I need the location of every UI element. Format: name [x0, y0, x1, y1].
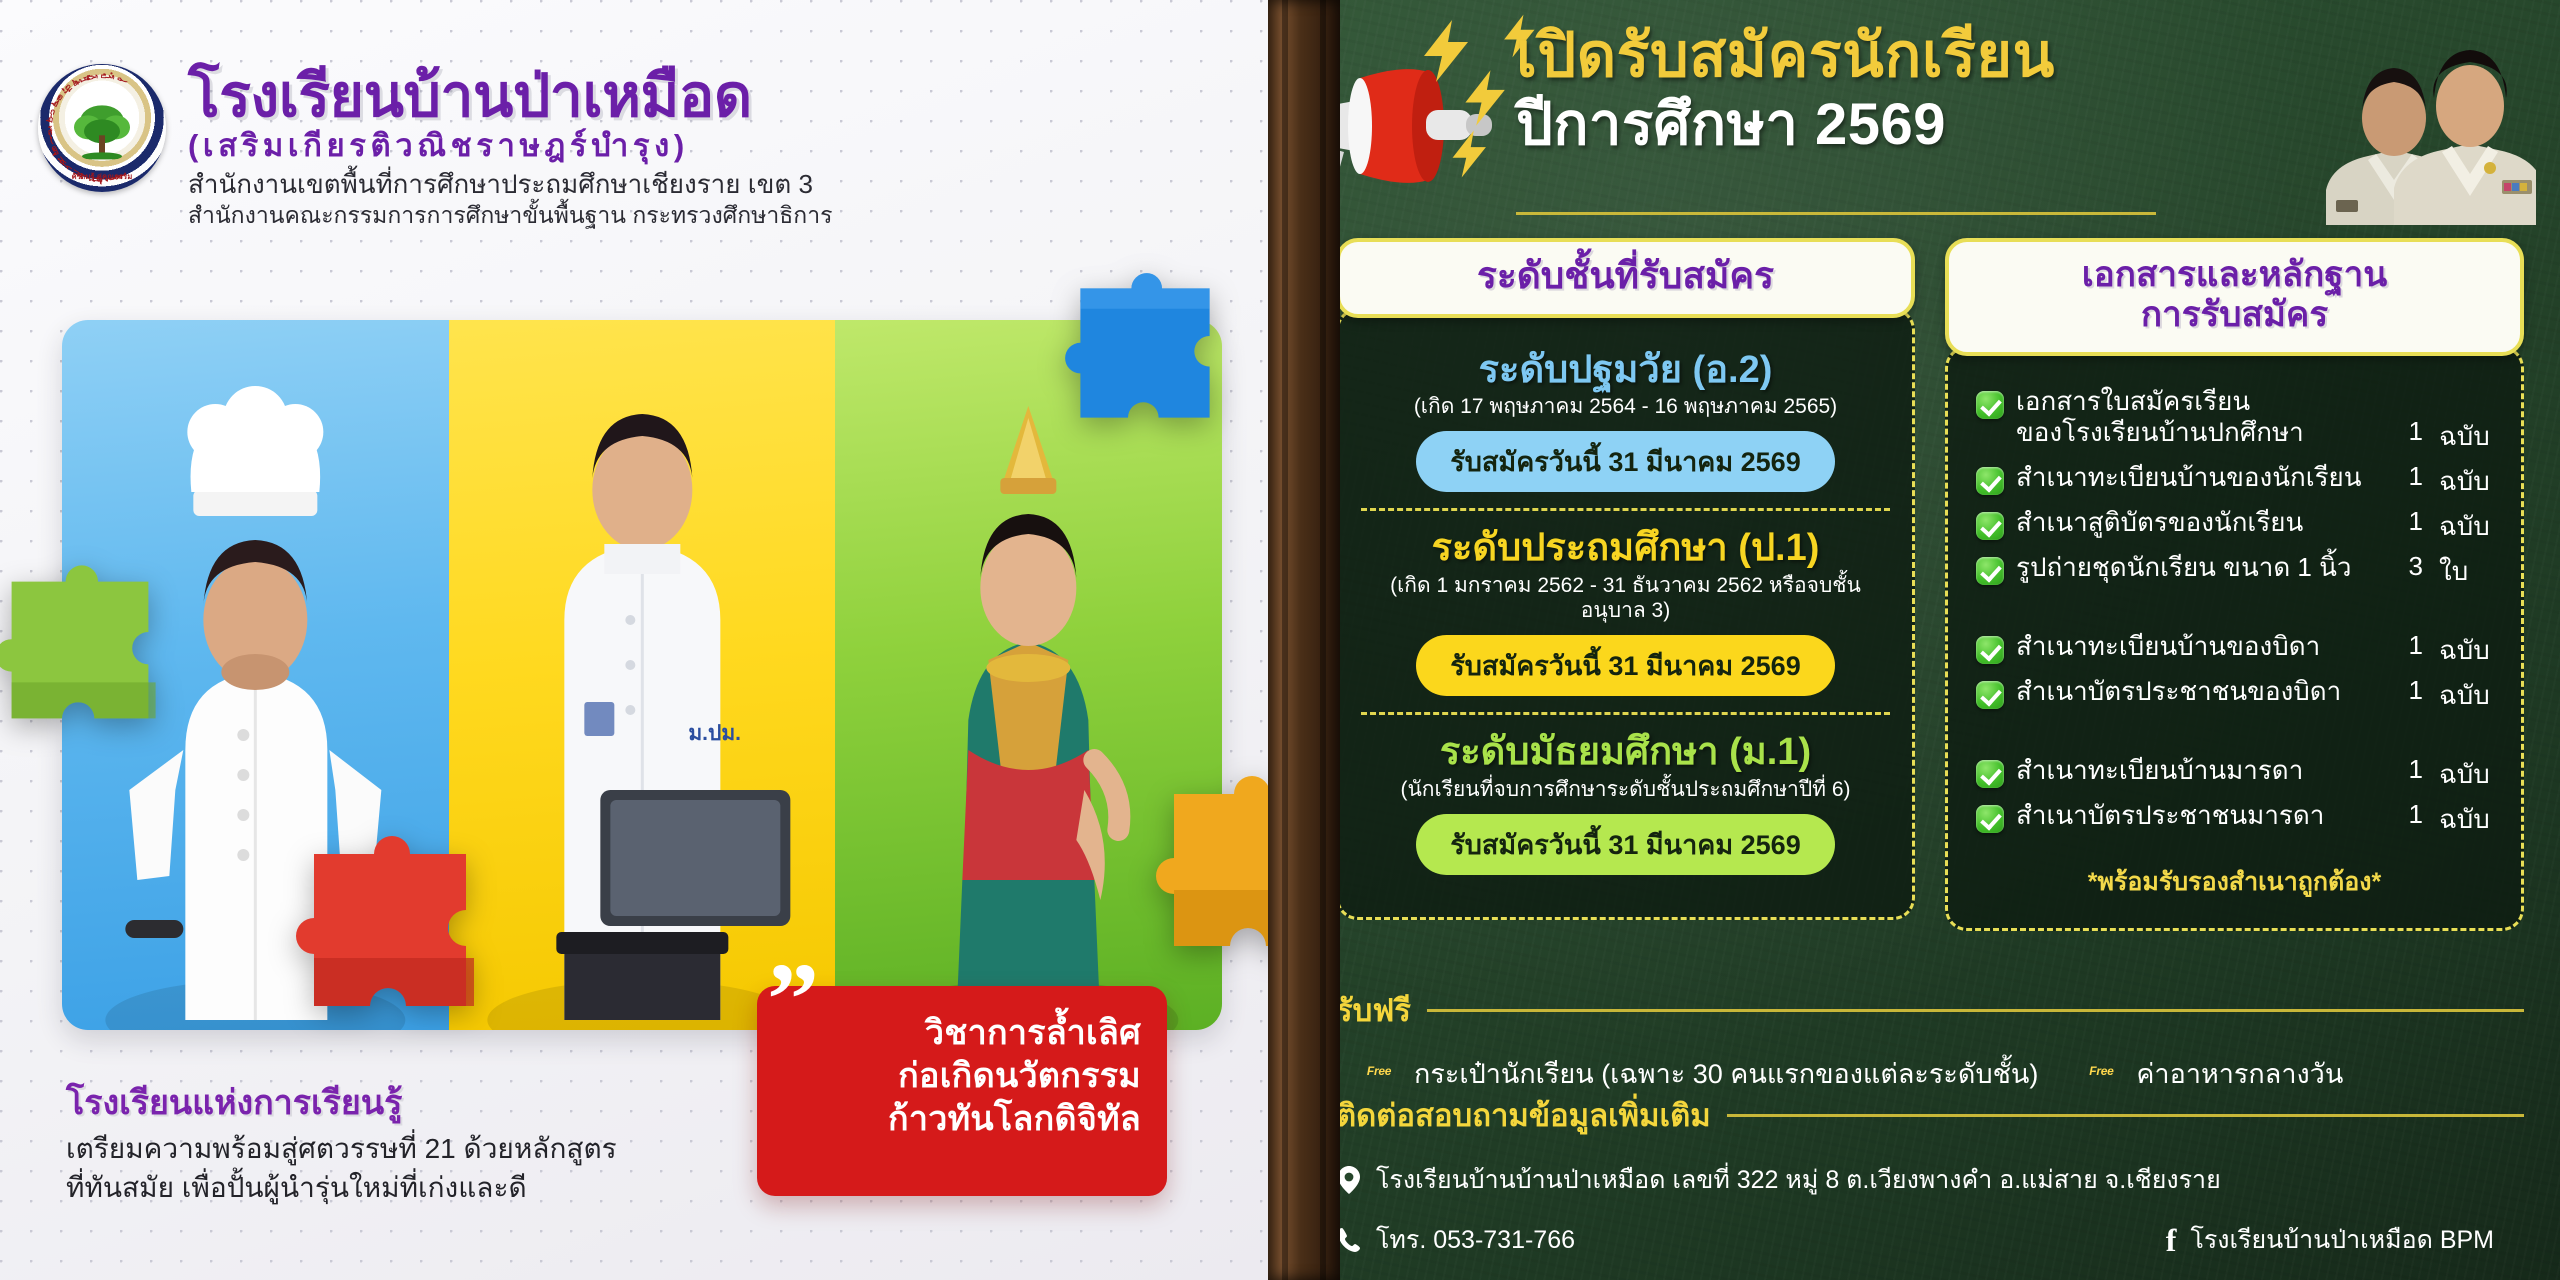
page-subtitle: (เสริมเกียรติวณิชราษฎร์บำรุง) [188, 127, 833, 165]
poster-root: โรงเรียนบ้านป่าเหมือด (เสริมเกียรติวณิชร… [0, 0, 2560, 1280]
documents-list: เอกสารใบสมัครเรียนของโรงเรียนบ้านปกศึกษา… [1970, 379, 2499, 841]
document-unit: ใบ [2423, 551, 2495, 592]
free-item-text: ค่าอาหารกลางวัน [2136, 1052, 2343, 1095]
level-deadline-pill: รับสมัครวันนี้ 31 มีนาคม 2569 [1416, 814, 1834, 875]
document-label-continued: ของโรงเรียนบ้านปกศึกษา [2016, 416, 2369, 457]
facebook-page-name: โรงเรียนบ้านป่าเหมือด BPM [2190, 1220, 2494, 1260]
free-star-badge-icon: Free [1356, 1051, 1402, 1095]
tagline-line-2: ที่ทันสมัย เพื่อปั้นผู้นำรุ่นใหม่ที่เก่ง… [66, 1170, 706, 1207]
right-panel-chalkboard: เปิดรับสมัครนักเรียน ปีการศึกษา 2569 [1300, 0, 2560, 1280]
office-line-2: สำนักงานคณะกรรมการการศึกษาขั้นพื้นฐาน กร… [188, 201, 833, 230]
free-badge-label: Free [1356, 1064, 1402, 1078]
facebook-icon: f [2166, 1222, 2177, 1259]
document-unit: ฉบับ [2423, 630, 2495, 671]
documents-column: เอกสารและหลักฐาน การรับสมัคร เอกสารใบสมั… [1945, 238, 2524, 931]
document-row: สำเนาทะเบียนบ้านมารดา1ฉบับ [1976, 754, 2495, 795]
check-icon [1976, 391, 2004, 419]
logo-ring-char: ) [119, 78, 128, 84]
document-unit: ฉบับ [2423, 799, 2495, 840]
document-label: สำเนาทะเบียนบ้านมารดา [2016, 754, 2369, 795]
contact-phone-row[interactable]: โทร. 053-731-766 f โรงเรียนบ้านป่าเหมือด… [1336, 1220, 2524, 1260]
level-title: ระดับมัธยมศึกษา (ม.1) [1361, 731, 1890, 775]
free-item: Freeค่าอาหารกลางวัน [2078, 1051, 2343, 1095]
quote-line-3: ก้าวทันโลกดิจิทัล [757, 1098, 1141, 1141]
document-unit: ฉบับ [2423, 506, 2495, 547]
document-quantity: 1 [2369, 630, 2423, 671]
free-section-title: รับฟรี [1336, 985, 1411, 1035]
school-header: โรงเรียนบ้านป่าเหมือด (เสริมเกียรติวณิชร… [0, 30, 1300, 231]
tagline-title: โรงเรียนแห่งการเรียนรู้ [66, 1075, 706, 1129]
office-line-1: สำนักงานเขตพื้นที่การศึกษาประถมศึกษาเชีย… [188, 168, 833, 201]
quote-mark-icon: ” [767, 964, 813, 1037]
quote-line-2: ก่อเกิดนวัตกรรม [757, 1055, 1141, 1098]
check-icon [1976, 805, 2004, 833]
book-spine-divider [1268, 0, 1340, 1280]
document-quantity: 3 [2369, 551, 2423, 592]
documents-gap [1976, 720, 2495, 750]
document-quantity: 1 [2369, 416, 2423, 457]
check-icon [1976, 636, 2004, 664]
levels-column: ระดับชั้นที่รับสมัคร ระดับปฐมวัย (อ.2)(เ… [1336, 238, 1915, 931]
document-quantity: 1 [2369, 799, 2423, 840]
document-quantity: 1 [2369, 754, 2423, 795]
documents-note: *พร้อมรับรองสำเนาถูกต้อง* [1970, 862, 2499, 902]
content-columns: ระดับชั้นที่รับสมัคร ระดับปฐมวัย (อ.2)(เ… [1300, 238, 2560, 931]
tagline-line-1: เตรียมความพร้อมสู่ศตวรรษที่ 21 ด้วยหลักส… [66, 1131, 706, 1168]
tree-icon [71, 101, 133, 159]
check-icon [1976, 467, 2004, 495]
level-eligibility: (นักเรียนที่จบการศึกษาระดับชั้นประถมศึกษ… [1361, 777, 1890, 802]
document-label: เอกสารใบสมัครเรียน [2016, 385, 2495, 419]
document-quantity: 1 [2369, 506, 2423, 547]
level-deadline-pill: รับสมัครวันนี้ 31 มีนาคม 2569 [1416, 635, 1834, 696]
free-items-list: Freeกระเป๋านักเรียน (เฉพาะ 30 คนแรกของแต… [1336, 1051, 2524, 1095]
documents-gap [1976, 596, 2495, 626]
teachers-photo [2316, 40, 2536, 225]
document-row: เอกสารใบสมัครเรียนของโรงเรียนบ้านปกศึกษา… [1976, 385, 2495, 458]
free-badge-label: Free [2078, 1064, 2124, 1078]
tagline-block: โรงเรียนแห่งการเรียนรู้ เตรียมความพร้อมส… [66, 1075, 706, 1207]
quote-line-1: วิชาการล้ำเลิศ [757, 1012, 1141, 1055]
free-item: Freeกระเป๋านักเรียน (เฉพาะ 30 คนแรกของแต… [1356, 1051, 2038, 1095]
levels-header: ระดับชั้นที่รับสมัคร [1336, 238, 1915, 318]
banner-title-primary: เปิดรับสมัครนักเรียน [1516, 20, 2055, 91]
check-icon [1976, 760, 2004, 788]
contact-address-row: โรงเรียนบ้านบ้านป่าเหมือด เลขที่ 322 หมู… [1336, 1160, 2524, 1200]
contact-section-title: ติดต่อสอบถามข้อมูลเพิ่มเติม [1336, 1090, 1711, 1140]
level-title: ระดับประถมศึกษา (ป.1) [1361, 527, 1890, 571]
document-row: รูปถ่ายชุดนักเรียน ขนาด 1 นิ้ว3ใบ [1976, 551, 2495, 592]
logo-motto: ความรู้ คู่คุณธรรม [38, 171, 166, 183]
document-unit: ฉบับ [2423, 461, 2495, 502]
boy-figure-icon: ม.ปม. [449, 320, 836, 1030]
level-block: ระดับประถมศึกษา (ป.1)(เกิด 1 มกราคม 2562… [1361, 508, 1890, 712]
level-block: ระดับมัธยมศึกษา (ม.1)(นักเรียนที่จบการศึ… [1361, 712, 1890, 891]
document-row: สำเนาทะเบียนบ้านของบิดา1ฉบับ [1976, 630, 2495, 671]
check-icon [1976, 557, 2004, 585]
facebook-link[interactable]: f โรงเรียนบ้านป่าเหมือด BPM [2166, 1220, 2524, 1260]
level-eligibility: (เกิด 1 มกราคม 2562 - 31 ธันวาคม 2562 หร… [1361, 573, 1890, 623]
documents-body: เอกสารใบสมัครเรียนของโรงเรียนบ้านปกศึกษา… [1945, 346, 2524, 932]
document-label: สำเนาสูติบัตรของนักเรียน [2016, 506, 2369, 547]
documents-header: เอกสารและหลักฐาน การรับสมัคร [1945, 238, 2524, 356]
puzzle-piece-green [0, 560, 170, 740]
photo-boy-student: ม.ปม. [449, 320, 836, 1030]
level-deadline-pill: รับสมัครวันนี้ 31 มีนาคม 2569 [1416, 431, 1834, 492]
documents-header-line-2: การรับสมัคร [1967, 295, 2502, 335]
free-section-divider [1427, 1009, 2524, 1012]
svg-text:ม.ปม.: ม.ปม. [688, 722, 741, 745]
document-quantity: 1 [2369, 461, 2423, 502]
documents-header-line-1: เอกสารและหลักฐาน [1967, 255, 2502, 295]
document-row: สำเนาทะเบียนบ้านของนักเรียน1ฉบับ [1976, 461, 2495, 502]
contact-section: ติดต่อสอบถามข้อมูลเพิ่มเติม โรงเรียนบ้าน… [1336, 1090, 2524, 1280]
document-row: สำเนาบัตรประชาชนของบิดา1ฉบับ [1976, 675, 2495, 716]
contact-address-text: โรงเรียนบ้านบ้านป่าเหมือด เลขที่ 322 หมู… [1376, 1160, 2221, 1200]
lightning-bolt-icon-2 [1460, 70, 1512, 126]
free-item-text: กระเป๋านักเรียน (เฉพาะ 30 คนแรกของแต่ละร… [1414, 1052, 2038, 1095]
levels-body: ระดับปฐมวัย (อ.2)(เกิด 17 พฤษภาคม 2564 -… [1336, 308, 1915, 921]
contact-phone-text: โทร. 053-731-766 [1376, 1220, 1575, 1260]
banner: เปิดรับสมัครนักเรียน ปีการศึกษา 2569 [1300, 0, 2560, 232]
banner-divider [1516, 212, 2156, 215]
free-section: รับฟรี Freeกระเป๋านักเรียน (เฉพาะ 30 คนแ… [1336, 985, 2524, 1095]
levels-header-text: ระดับชั้นที่รับสมัคร [1358, 255, 1893, 298]
school-logo: โรงเรียนบ้านป่าเหมือด (เสริมเกียรติวณิชร… [38, 64, 166, 192]
lightning-bolt-icon-3 [1448, 130, 1492, 178]
level-eligibility: (เกิด 17 พฤษภาคม 2564 - 16 พฤษภาคม 2565) [1361, 394, 1890, 419]
page-title: โรงเรียนบ้านป่าเหมือด [188, 66, 833, 126]
left-panel: โรงเรียนบ้านป่าเหมือด (เสริมเกียรติวณิชร… [0, 0, 1300, 1280]
banner-title-secondary: ปีการศึกษา 2569 [1516, 91, 2055, 158]
check-icon [1976, 512, 2004, 540]
document-label: สำเนาบัตรประชาชนของบิดา [2016, 675, 2369, 716]
free-star-badge-icon: Free [2078, 1051, 2124, 1095]
level-title: ระดับปฐมวัย (อ.2) [1361, 349, 1890, 393]
document-label: สำเนาทะเบียนบ้านของบิดา [2016, 630, 2369, 671]
quote-card: ” วิชาการล้ำเลิศ ก่อเกิดนวัตกรรม ก้าวทัน… [757, 986, 1167, 1196]
document-unit: ฉบับ [2423, 754, 2495, 795]
check-icon [1976, 681, 2004, 709]
document-label: สำเนาทะเบียนบ้านของนักเรียน [2016, 461, 2369, 502]
document-row: สำเนาบัตรประชาชนมารดา1ฉบับ [1976, 799, 2495, 840]
student-photo-strip: ม.ปม. [62, 320, 1222, 1030]
contact-section-divider [1727, 1114, 2524, 1117]
puzzle-piece-red [290, 830, 490, 1030]
document-unit: ฉบับ [2423, 416, 2495, 457]
puzzle-piece-blue [1060, 268, 1230, 438]
document-quantity: 1 [2369, 675, 2423, 716]
document-row: สำเนาสูติบัตรของนักเรียน1ฉบับ [1976, 506, 2495, 547]
document-label: สำเนาบัตรประชาชนมารดา [2016, 799, 2369, 840]
level-block: ระดับปฐมวัย (อ.2)(เกิด 17 พฤษภาคม 2564 -… [1361, 341, 1890, 509]
document-label: รูปถ่ายชุดนักเรียน ขนาด 1 นิ้ว [2016, 551, 2369, 592]
document-unit: ฉบับ [2423, 675, 2495, 716]
